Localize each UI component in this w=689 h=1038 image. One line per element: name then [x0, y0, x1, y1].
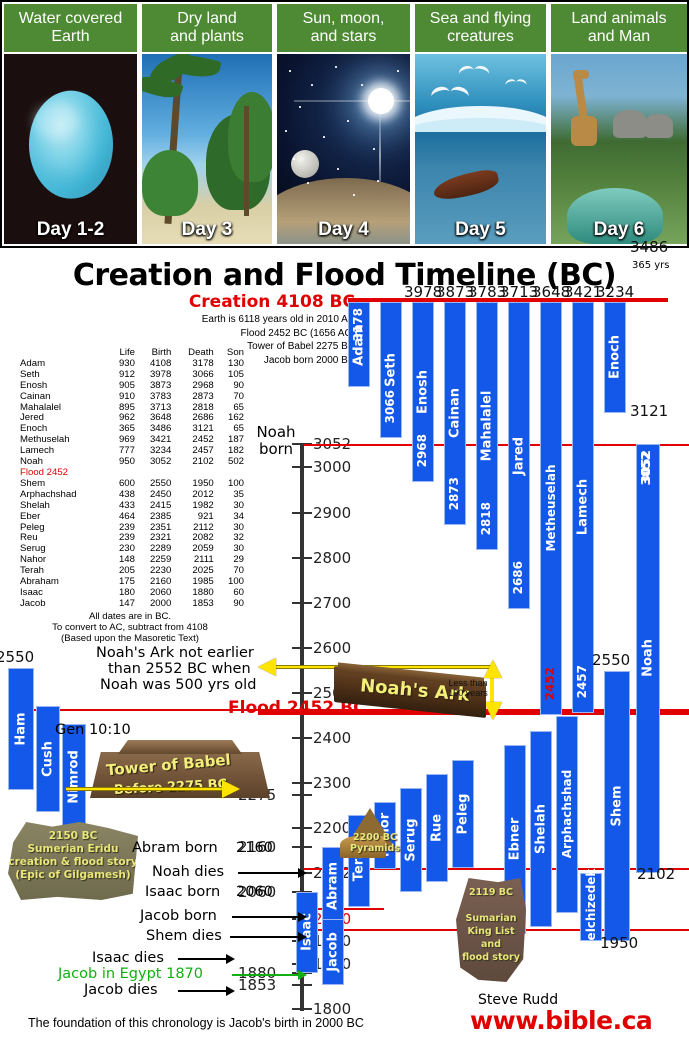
bar-inner-value: 2968: [415, 434, 429, 467]
foundation-note: The foundation of this chronology is Jac…: [28, 1016, 364, 1030]
bar-arphachshad: Arphachshad: [556, 716, 578, 914]
noah-birth-inner-value: 3052: [639, 452, 653, 485]
sea-and-flying-creatures-icon: [415, 54, 546, 244]
bar-label: Mahalalel: [480, 390, 495, 461]
axis-tick-2500: [292, 692, 312, 694]
bar-top-value: 2550: [0, 648, 34, 666]
cell-son: 70: [218, 392, 248, 403]
ark-callout-line-2: than 2552 BC when: [108, 661, 251, 677]
bar-label: Melchizedek?: [584, 862, 598, 953]
axis-label-left-1853: 1853: [238, 976, 276, 994]
cell-birth: 2000: [139, 599, 175, 610]
bar-inner-value: 2818: [479, 502, 493, 535]
day-image-1: Day 1-2: [4, 54, 137, 244]
day-title-2: Dry land and plants: [142, 4, 272, 52]
day-column-2: Dry land and plants Day 3: [142, 4, 272, 244]
note-2: To convert to AC, subtract from 4108: [12, 622, 248, 633]
less-than-100-years-label: Less than100 years: [444, 678, 492, 698]
event-arrow-1: [298, 868, 307, 878]
cell-life: 433: [110, 501, 139, 512]
gen-reference-label: Gen 10:10: [55, 722, 131, 738]
cell-life: 464: [110, 512, 139, 523]
bar-label: Nimrod: [67, 750, 82, 804]
cell-birth: 3783: [139, 392, 175, 403]
bar-label: Cush: [41, 741, 56, 777]
bar-peleg: Peleg: [452, 760, 474, 868]
sumerian-eridu-graphic: 2150 BC Sumerian Eridu creation & flood …: [8, 822, 138, 900]
event-leader-7: [178, 990, 228, 992]
day-column-5: Land animals and Man Day 6: [551, 4, 687, 244]
bar-noah: Noah: [636, 444, 660, 873]
enoch-lifespan-label: 365 yrs: [632, 260, 670, 271]
event-callout-1: Noah dies: [152, 864, 224, 880]
cell-son: 34: [218, 512, 248, 523]
axis-tick-2700: [292, 602, 312, 604]
sumerian-text: 2119 BC Sumarian King List and flood sto…: [456, 886, 526, 964]
axis-tick-2200: [292, 827, 312, 829]
event-callout-6: Jacob in Egypt 1870: [58, 966, 203, 982]
bar-top-value: 3234: [596, 283, 634, 301]
axis-label-2600: 2600: [313, 639, 351, 657]
axis-label-2300: 2300: [313, 774, 351, 792]
bar-inner-value: 3178: [351, 308, 365, 341]
cell-life: 950: [110, 457, 139, 468]
event-callout-0: Abram born: [132, 840, 218, 856]
bar-nimrod: Nimrod: [62, 724, 86, 830]
water-covered-earth-icon: [4, 54, 137, 244]
table-row: Enosh9053873296890: [12, 381, 248, 392]
bar-inner-value: 2873: [447, 477, 461, 510]
event-callout-3: Jacob born: [140, 908, 217, 924]
enoch-birth-value: 3486: [630, 238, 668, 256]
event-value-2: 2060: [236, 884, 273, 900]
event-arrow-3: [298, 912, 307, 922]
ark-callout-line-3: Noah was 500 yrs old: [100, 677, 256, 693]
bar-inner-value: 2686: [511, 561, 525, 594]
bar-shem: Shem: [604, 671, 630, 942]
bar-ham: Ham: [8, 668, 34, 790]
bar-label: Seth: [384, 353, 399, 387]
enoch-death-value: 3121: [630, 402, 668, 420]
day-image-5: Day 6: [551, 54, 687, 244]
axis-tick-2800: [292, 557, 312, 559]
dry-land-and-plants-icon: [142, 54, 272, 244]
bar-melchizedek: Melchizedek?: [580, 873, 602, 942]
cell-name: Jacob: [12, 599, 110, 610]
axis-tick-3000: [292, 466, 312, 468]
bar-label: Shem: [610, 785, 625, 826]
pyramids-text: 2200 BCPyramids: [338, 832, 412, 854]
value-1950-label: 1950: [600, 934, 638, 952]
bar-label: Enoch: [608, 335, 623, 379]
bar-label: Lamech: [576, 479, 591, 535]
cell-death: 1982: [175, 501, 217, 512]
day-label-4: Day 5: [415, 219, 546, 241]
event-callout-4: Shem dies: [146, 928, 222, 944]
bar-top-value: 2550: [592, 651, 630, 669]
axis-label-2800: 2800: [313, 549, 351, 567]
website-label[interactable]: www.bible.ca: [470, 1006, 652, 1035]
cell-birth: 2385: [139, 512, 175, 523]
sumerian-king-list-graphic: 2119 BC Sumarian King List and flood sto…: [456, 878, 526, 982]
eridu-text: 2150 BC Sumerian Eridu creation & flood …: [8, 830, 138, 882]
cell-death: 2102: [175, 457, 217, 468]
cell-birth: 3052: [139, 457, 175, 468]
ark-yellow-arrow-left: [258, 658, 276, 676]
axis-tick-2160: [292, 846, 312, 848]
table-row: Eber464238592134: [12, 512, 248, 523]
axis-label-3000: 3000: [313, 458, 351, 476]
table-row: Shelah4332415198230: [12, 501, 248, 512]
bar-label: Peleg: [456, 794, 471, 835]
table-row: Jacob1472000185390: [12, 599, 248, 610]
cell-death: 921: [175, 512, 217, 523]
bar-label: Abram: [326, 862, 341, 910]
axis-label-2700: 2700: [313, 594, 351, 612]
axis-tick-1853: [292, 984, 312, 986]
table-row: Cainan9103783287370: [12, 392, 248, 403]
babel-yellow-line: [66, 787, 222, 791]
bar-jacob: Jacob: [322, 919, 344, 985]
event-arrow-5: [226, 954, 235, 964]
axis-tick-2275: [292, 794, 312, 796]
bar-label: Jared: [512, 437, 527, 475]
cell-son: 90: [218, 381, 248, 392]
genealogy-table: Life Birth Death Son Adam93041083178130S…: [12, 348, 248, 644]
cell-son: 90: [218, 599, 248, 610]
bar-inner-value: 2452: [543, 667, 557, 700]
cell-life: 910: [110, 392, 139, 403]
cell-name: Eber: [12, 512, 110, 523]
day-title-5: Land animals and Man: [551, 4, 687, 52]
bar-rue: Rue: [426, 774, 448, 882]
bar-label: Ebner: [508, 818, 523, 861]
day-column-3: Sun, moon, and stars Day 4: [277, 4, 410, 244]
axis-tick-2400: [292, 737, 312, 739]
cell-birth: 2415: [139, 501, 175, 512]
day-image-3: Day 4: [277, 54, 410, 244]
bar-label: Noah: [641, 639, 656, 677]
event-callout-5: Isaac dies: [92, 950, 164, 966]
noah-born-label: Noah born: [252, 424, 300, 458]
bar-lamech: Lamech: [572, 302, 594, 713]
ark-yellow-arrow-down: [484, 702, 502, 720]
axis-label-2400: 2400: [313, 729, 351, 747]
creation-note-2: Flood 2452 BC (1656 AC): [175, 328, 355, 340]
bar-inner-value: 3066: [383, 390, 397, 423]
ark-callout-line-1: Noah's Ark not earlier: [96, 645, 254, 661]
bar-abram: Abram: [322, 847, 344, 926]
day-title-3: Sun, moon, and stars: [277, 4, 410, 52]
creation-note-1: Earth is 6118 years old in 2010 AD: [175, 314, 355, 326]
cell-death: 2873: [175, 392, 217, 403]
event-leader-1: [238, 872, 300, 874]
event-leader-4: [230, 936, 300, 938]
cell-birth: 3873: [139, 381, 175, 392]
creation-heading: Creation 4108 BC: [175, 292, 355, 312]
day-label-2: Day 3: [142, 219, 272, 241]
event-leader-3: [232, 916, 300, 918]
event-leader-5: [178, 958, 228, 960]
bar-label: Arphachshad: [560, 770, 574, 858]
event-arrow-7: [226, 986, 235, 996]
creation-days-banner: Water covered Earth Day 1-2 Dry land and…: [0, 0, 689, 248]
bar-label: Enosh: [416, 370, 431, 414]
bar-metheuselah: Metheuselah: [540, 302, 562, 715]
event-arrow-6: [298, 970, 307, 980]
note-3: (Based upon the Masoretic Text): [12, 633, 248, 644]
value-2102-label: 2102: [637, 865, 675, 883]
sun-moon-stars-icon: [277, 54, 410, 244]
event-arrow-4: [298, 932, 307, 942]
note-1: All dates are in BC.: [12, 611, 248, 622]
cell-life: 147: [110, 599, 139, 610]
event-callout-2: Isaac born: [145, 884, 220, 900]
land-animals-and-man-icon: [551, 54, 687, 244]
pyramids-graphic: 2200 BCPyramids: [338, 800, 412, 858]
cell-death: 1853: [175, 599, 217, 610]
axis-tick-2600: [292, 647, 312, 649]
bar-label: Cainan: [448, 388, 463, 438]
bar-label: Rue: [430, 814, 445, 842]
cell-death: 2968: [175, 381, 217, 392]
cell-name: Shelah: [12, 501, 110, 512]
genealogy-notes: All dates are in BC. To convert to AC, s…: [12, 611, 248, 644]
event-leader-6: [232, 974, 300, 976]
cell-name: Cainan: [12, 392, 110, 403]
day-image-4: Day 5: [415, 54, 546, 244]
ark-yellow-arrow-up: [484, 660, 502, 678]
axis-tick-2300: [292, 782, 312, 784]
bar-label: Shelah: [534, 804, 549, 854]
day-label-1: Day 1-2: [4, 219, 137, 241]
cell-son: 30: [218, 501, 248, 512]
day-label-3: Day 4: [277, 219, 410, 241]
day-title-1: Water covered Earth: [4, 4, 137, 52]
cell-life: 905: [110, 381, 139, 392]
bar-inner-value: 2457: [575, 665, 589, 698]
bar-label: Jacob: [326, 932, 341, 972]
day-title-4: Sea and flying creatures: [415, 4, 546, 52]
bar-shelah: Shelah: [530, 731, 552, 926]
bar-label: Metheuselah: [544, 465, 558, 552]
axis-label-2900: 2900: [313, 504, 351, 522]
cell-name: Enosh: [12, 381, 110, 392]
bar-enoch: Enoch: [604, 302, 626, 413]
event-callout-7: Jacob dies: [84, 982, 158, 998]
babel-yellow-arrow: [222, 780, 240, 798]
day-column-4: Sea and flying creatures Day 5: [415, 4, 546, 244]
day-column-1: Water covered Earth Day 1-2: [4, 4, 137, 244]
event-value-0: 2160: [236, 840, 273, 856]
day-image-2: Day 3: [142, 54, 272, 244]
bar-label: Ham: [14, 712, 29, 745]
cell-son: 502: [218, 457, 248, 468]
axis-tick-1800: [292, 1008, 312, 1010]
axis-tick-2900: [292, 512, 312, 514]
